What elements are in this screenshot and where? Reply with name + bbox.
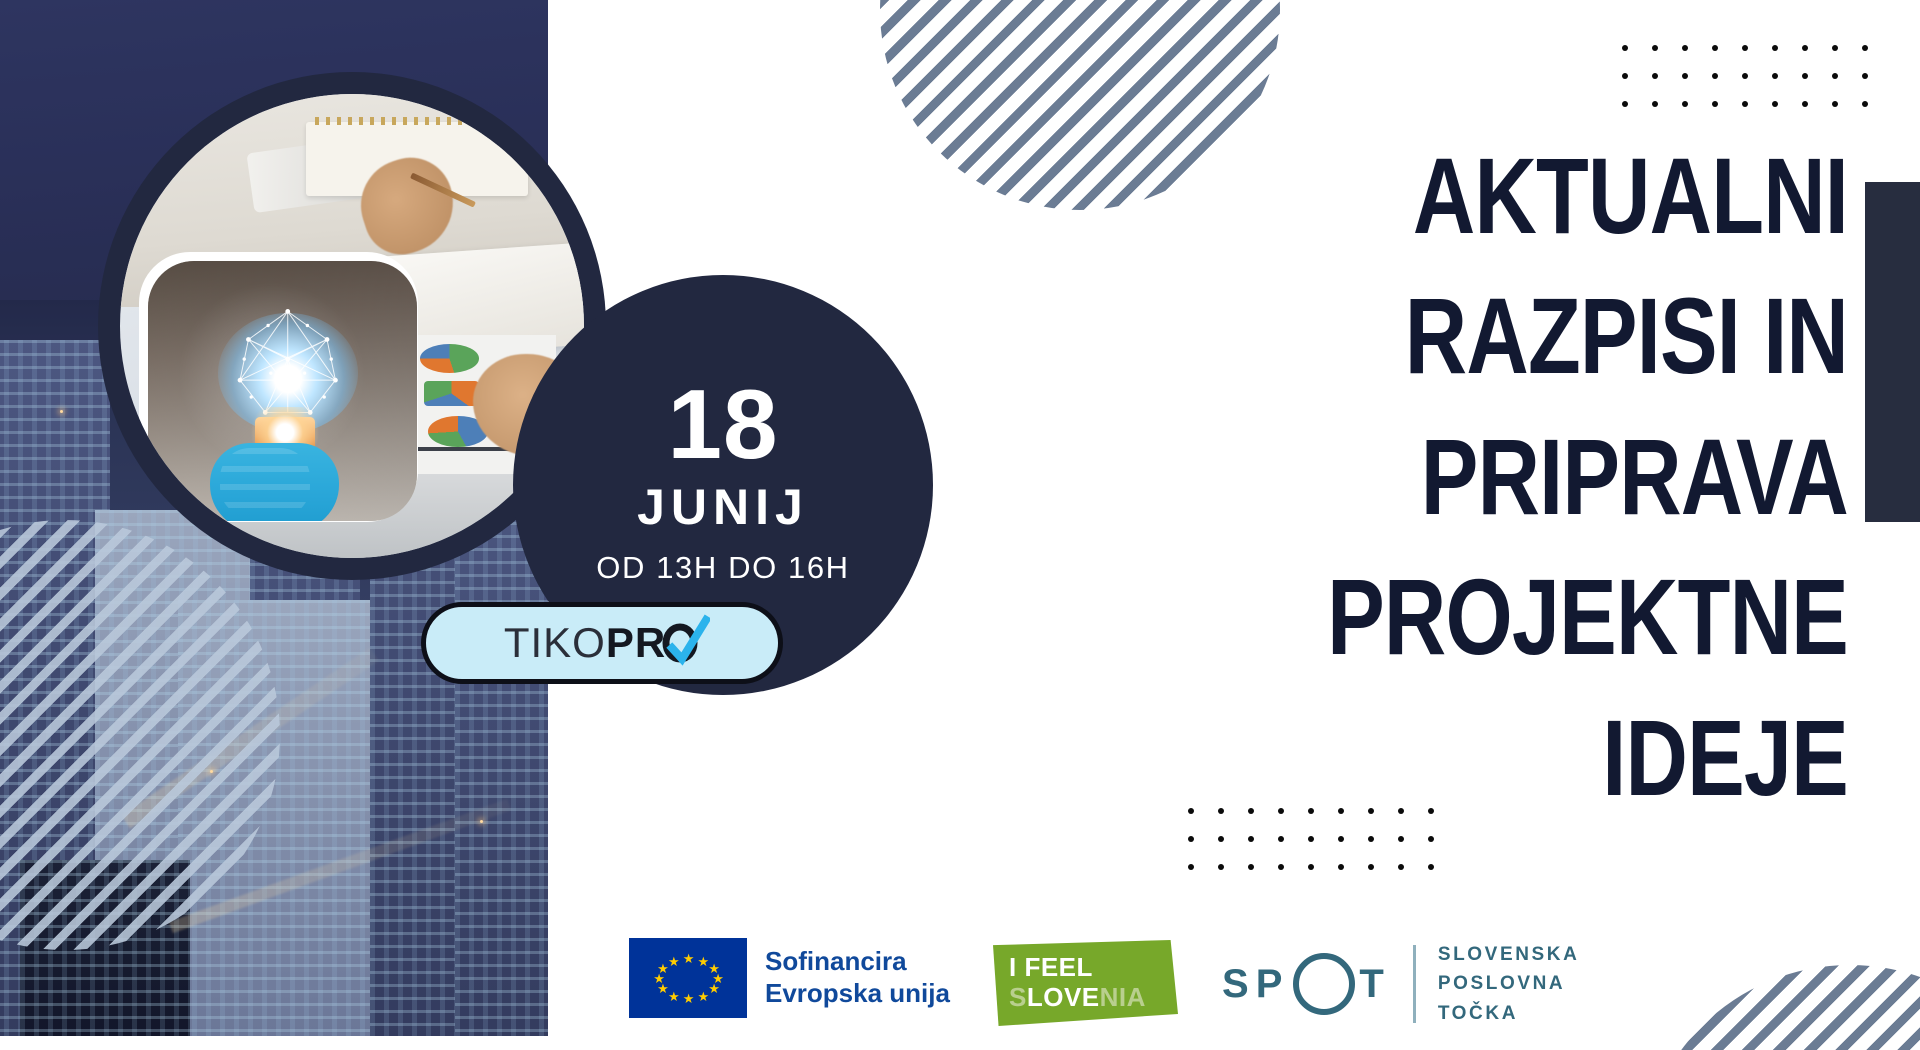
eu-flag-icon: ★★★★★★★★★★★★ — [629, 938, 747, 1018]
grid-dot — [1308, 864, 1314, 870]
bar-chart-icon — [424, 381, 479, 406]
grid-dot — [1772, 45, 1778, 51]
grid-dot — [1742, 45, 1748, 51]
grid-dot — [1248, 836, 1254, 842]
grid-dot — [1832, 73, 1838, 79]
spot-divider — [1413, 945, 1416, 1023]
grid-dot — [1248, 808, 1254, 814]
grid-dot — [1622, 73, 1628, 79]
grid-dot — [1652, 45, 1658, 51]
grid-dot — [1188, 836, 1194, 842]
grid-dot — [1398, 864, 1404, 870]
grid-dot — [1368, 808, 1374, 814]
slovenia-love: LOVE — [1027, 982, 1100, 1012]
grid-dot — [1682, 101, 1688, 107]
grid-dot — [1712, 73, 1718, 79]
eu-star-icon: ★ — [668, 955, 680, 968]
grid-dot — [1428, 808, 1434, 814]
spot-subtitle-line-1: SLOVENSKA — [1438, 940, 1580, 969]
footer-logo-row: ★★★★★★★★★★★★ Sofinancira Evropska unija … — [0, 928, 1920, 1050]
grid-dot — [1742, 101, 1748, 107]
spot-subtitle: SLOVENSKA POSLOVNA TOČKA — [1438, 940, 1580, 1028]
eu-cofunding-logo: ★★★★★★★★★★★★ Sofinancira Evropska unija — [629, 938, 950, 1018]
headline-line-2: RAZPISI IN — [1186, 266, 1848, 406]
grid-dot — [1862, 73, 1868, 79]
grid-dot — [1652, 101, 1658, 107]
grid-dot — [1622, 45, 1628, 51]
dot-grid-middle — [1188, 808, 1434, 870]
eu-star-icon: ★ — [697, 990, 709, 1003]
grid-dot — [1742, 73, 1748, 79]
slovenia-text: SLOVENIA — [1009, 982, 1146, 1013]
dot-grid-top-right — [1622, 45, 1868, 107]
spot-subtitle-line-3: TOČKA — [1438, 999, 1580, 1028]
grid-dot — [1802, 45, 1808, 51]
grid-dot — [1712, 101, 1718, 107]
headline-line-5: IDEJE — [1186, 688, 1848, 828]
i-feel-text: I FEEL — [1009, 952, 1093, 983]
pro-bold-text: PR — [606, 619, 666, 667]
grid-dot — [1772, 101, 1778, 107]
eu-star-icon: ★ — [668, 990, 680, 1003]
spot-ring-o-icon — [1293, 953, 1355, 1015]
grid-dot — [1428, 836, 1434, 842]
grid-dot — [1218, 808, 1224, 814]
checkmark-o-icon — [666, 623, 700, 663]
headline-line-3: PRIPRAVA — [1186, 407, 1848, 547]
grid-dot — [1832, 45, 1838, 51]
grid-dot — [1772, 73, 1778, 79]
spot-logo: SPT SLOVENSKA POSLOVNA TOČKA — [1222, 940, 1579, 1028]
spot-letter-p: P — [1256, 962, 1290, 1007]
headline-line-4: PROJEKTNE — [1186, 547, 1848, 687]
grid-dot — [1802, 73, 1808, 79]
grid-dot — [1338, 808, 1344, 814]
eu-logo-text: Sofinancira Evropska unija — [765, 946, 950, 1009]
pie-chart-icon — [420, 344, 480, 373]
grid-dot — [1278, 836, 1284, 842]
spot-subtitle-line-2: POSLOVNA — [1438, 969, 1580, 998]
headline-line-1: AKTUALNI — [1186, 126, 1848, 266]
grid-dot — [1862, 101, 1868, 107]
grid-dot — [1682, 73, 1688, 79]
grid-dot — [1338, 864, 1344, 870]
event-day: 18 — [667, 378, 778, 471]
grid-dot — [1248, 864, 1254, 870]
grid-dot — [1338, 836, 1344, 842]
tikopro-logo-badge[interactable]: TIKOPR — [421, 602, 783, 684]
eu-text-line-1: Sofinancira — [765, 946, 950, 978]
grid-dot — [1832, 101, 1838, 107]
slovenia-nia: NIA — [1100, 982, 1146, 1012]
grid-dot — [1682, 45, 1688, 51]
spot-letter-s: S — [1222, 962, 1256, 1007]
grid-dot — [1368, 836, 1374, 842]
grid-dot — [1218, 864, 1224, 870]
eu-star-icon: ★ — [683, 992, 695, 1005]
slovenia-s: S — [1009, 982, 1027, 1012]
right-accent-bar — [1865, 182, 1920, 522]
grid-dot — [1622, 101, 1628, 107]
grid-dot — [1862, 45, 1868, 51]
grid-dot — [1802, 101, 1808, 107]
spot-letter-t: T — [1359, 962, 1390, 1007]
eu-star-icon: ★ — [708, 982, 720, 995]
grid-dot — [1652, 73, 1658, 79]
i-feel-slovenia-logo: I FEEL SLOVENIA — [993, 940, 1178, 1026]
page-title: AKTUALNI RAZPISI IN PRIPRAVA PROJEKTNE I… — [1020, 126, 1848, 828]
lightbulb-inset-card — [148, 261, 417, 521]
grid-dot — [1308, 808, 1314, 814]
tikopro-wordmark: TIKOPR — [504, 619, 700, 667]
grid-dot — [1712, 45, 1718, 51]
grid-dot — [1278, 808, 1284, 814]
promo-banner: 18 JUNIJ OD 13H DO 16H TIKOPR AKTUALNI R… — [0, 0, 1920, 1050]
event-month: JUNIJ — [637, 478, 809, 536]
grid-dot — [1218, 836, 1224, 842]
spot-wordmark: SPT — [1222, 953, 1391, 1015]
grid-dot — [1278, 864, 1284, 870]
grid-dot — [1368, 864, 1374, 870]
grid-dot — [1398, 808, 1404, 814]
eu-text-line-2: Evropska unija — [765, 978, 950, 1010]
eu-star-icon: ★ — [683, 952, 695, 965]
grid-dot — [1398, 836, 1404, 842]
cyan-hand-overlay — [210, 443, 339, 521]
grid-dot — [1188, 864, 1194, 870]
event-time: OD 13H DO 16H — [596, 550, 849, 586]
grid-dot — [1428, 864, 1434, 870]
grid-dot — [1188, 808, 1194, 814]
tiko-thin-text: TIKO — [504, 619, 606, 667]
grid-dot — [1308, 836, 1314, 842]
